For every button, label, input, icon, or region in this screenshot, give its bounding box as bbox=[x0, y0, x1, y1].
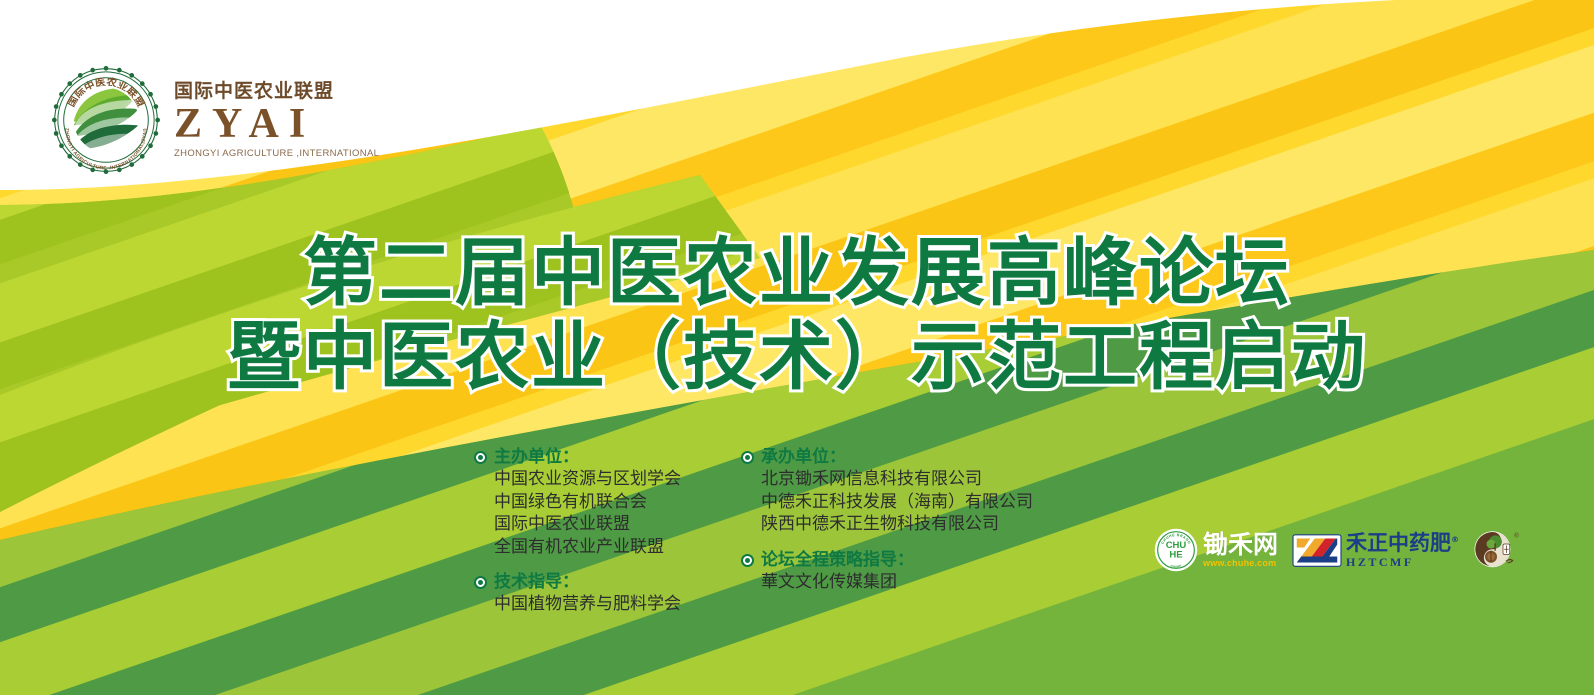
sponsor-logos: CHUHE BRAND CHUHE CHU HE 锄禾网 www.chuhe.c… bbox=[1154, 528, 1521, 572]
chuhe-url: www.chuhe.com bbox=[1203, 559, 1276, 568]
banner-title: 第二届中医农业发展高峰论坛 暨中医农业（技术）示范工程启动 bbox=[0, 236, 1594, 394]
credit-heading: 技术指导： bbox=[474, 572, 681, 593]
credit-item: 北京锄禾网信息科技有限公司 bbox=[761, 468, 1033, 490]
registered-mark: ® bbox=[1451, 535, 1459, 544]
zyai-logo: 国际中医农业联盟 ZHONGYI AGRICULTURE .INTERNATIO… bbox=[52, 66, 379, 174]
credit-item: 華文文化传媒集团 bbox=[761, 571, 1033, 593]
credits-right-column: 承办单位： 北京锄禾网信息科技有限公司 中德禾正科技发展（海南）有限公司 陕西中… bbox=[741, 447, 1033, 593]
credit-group-co-organizers: 承办单位： 北京锄禾网信息科技有限公司 中德禾正科技发展（海南）有限公司 陕西中… bbox=[741, 447, 1033, 536]
credit-items: 中国农业资源与区划学会 中国绿色有机联合会 国际中医农业联盟 全国有机农业产业联… bbox=[494, 468, 681, 558]
zyai-abbr: ZYAI bbox=[174, 103, 315, 145]
credit-heading: 承办单位： bbox=[741, 447, 1033, 468]
svg-text:HE: HE bbox=[1169, 549, 1182, 560]
tree-seal-logo: ® bbox=[1473, 528, 1521, 572]
banner-title-line2: 暨中医农业（技术）示范工程启动 bbox=[0, 320, 1594, 394]
credit-item: 国际中医农业联盟 bbox=[494, 513, 681, 535]
credit-item: 陕西中德禾正生物科技有限公司 bbox=[761, 513, 1033, 535]
zyai-logo-text: 国际中医农业联盟 ZYAI ZHONGYI AGRICULTURE ,INTER… bbox=[174, 81, 379, 159]
credit-heading-label: 技术指导： bbox=[494, 572, 579, 593]
hztcmf-mark-icon bbox=[1292, 534, 1342, 567]
bullet-icon bbox=[474, 576, 487, 589]
chuhe-logo: CHUHE BRAND CHUHE CHU HE 锄禾网 www.chuhe.c… bbox=[1154, 528, 1278, 572]
hztcmf-logo: 禾正中药肥® HZTCMF bbox=[1292, 533, 1459, 568]
credit-heading-label: 主办单位： bbox=[494, 447, 579, 468]
credit-group-strategy-guidance: 论坛全程策略指导： 華文文化传媒集团 bbox=[741, 550, 1033, 594]
zyai-cn-name: 国际中医农业联盟 bbox=[174, 81, 334, 102]
credit-item: 中德禾正科技发展（海南）有限公司 bbox=[761, 491, 1033, 513]
zyai-seal-icon: 国际中医农业联盟 ZHONGYI AGRICULTURE .INTERNATIO… bbox=[52, 66, 160, 174]
chuhe-cn-name: 锄禾网 bbox=[1203, 532, 1278, 557]
credits-block: 主办单位： 中国农业资源与区划学会 中国绿色有机联合会 国际中医农业联盟 全国有… bbox=[474, 447, 1033, 616]
banner-title-line1: 第二届中医农业发展高峰论坛 bbox=[0, 236, 1594, 310]
credit-item: 中国植物营养与肥料学会 bbox=[494, 593, 681, 615]
zyai-en-name: ZHONGYI AGRICULTURE ,INTERNATIONAL bbox=[174, 148, 379, 159]
chuhe-seal-icon: CHUHE BRAND CHUHE CHU HE bbox=[1154, 528, 1198, 572]
credit-heading-label: 论坛全程策略指导： bbox=[761, 550, 914, 571]
credit-item: 全国有机农业产业联盟 bbox=[494, 536, 681, 558]
credit-heading-label: 承办单位： bbox=[761, 447, 846, 468]
tree-seal-icon: ® bbox=[1473, 528, 1521, 572]
registered-mark: ® bbox=[1514, 532, 1519, 539]
bullet-icon bbox=[474, 451, 487, 464]
bullet-icon bbox=[741, 451, 754, 464]
credit-heading: 论坛全程策略指导： bbox=[741, 550, 1033, 571]
credit-heading: 主办单位： bbox=[474, 447, 681, 468]
conference-banner: 国际中医农业联盟 ZHONGYI AGRICULTURE .INTERNATIO… bbox=[0, 0, 1594, 695]
credit-items: 中国植物营养与肥料学会 bbox=[494, 593, 681, 615]
credit-item: 中国绿色有机联合会 bbox=[494, 491, 681, 513]
hztcmf-en-name: HZTCMF bbox=[1346, 556, 1414, 568]
credit-group-organizers: 主办单位： 中国农业资源与区划学会 中国绿色有机联合会 国际中医农业联盟 全国有… bbox=[474, 447, 681, 558]
bullet-icon bbox=[741, 554, 754, 567]
credit-items: 華文文化传媒集团 bbox=[761, 571, 1033, 593]
credit-items: 北京锄禾网信息科技有限公司 中德禾正科技发展（海南）有限公司 陕西中德禾正生物科… bbox=[761, 468, 1033, 535]
credit-item: 中国农业资源与区划学会 bbox=[494, 468, 681, 490]
credit-group-tech-guidance: 技术指导： 中国植物营养与肥料学会 bbox=[474, 572, 681, 616]
hztcmf-cn-label: 禾正中药肥 bbox=[1346, 531, 1451, 555]
credits-left-column: 主办单位： 中国农业资源与区划学会 中国绿色有机联合会 国际中医农业联盟 全国有… bbox=[474, 447, 681, 616]
hztcmf-cn-name: 禾正中药肥® bbox=[1346, 533, 1459, 554]
